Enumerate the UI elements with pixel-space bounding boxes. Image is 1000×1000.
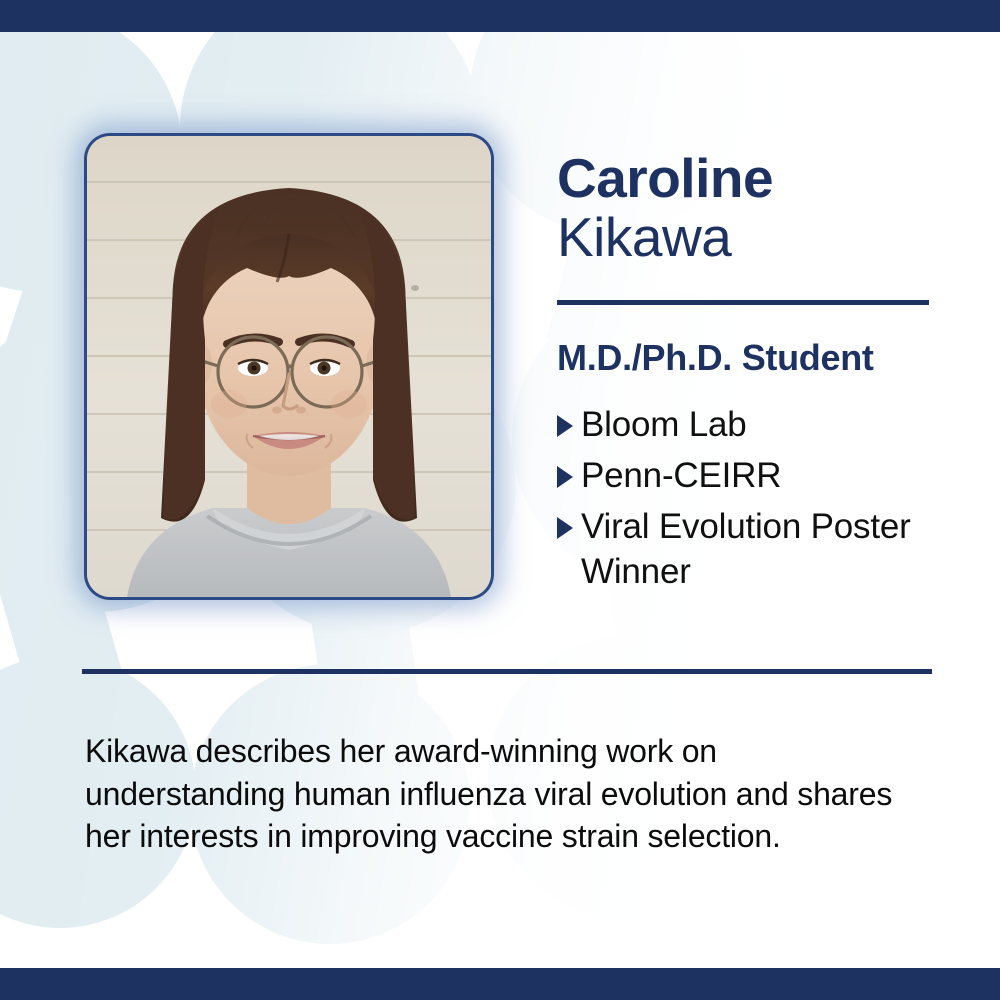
list-item: Penn-CEIRR <box>557 454 987 499</box>
bottom-navy-band <box>0 968 1000 1000</box>
triangle-bullet-icon <box>557 466 573 488</box>
top-navy-band <box>0 0 1000 32</box>
profile-card: Caroline Kikawa M.D./Ph.D. Student Bloom… <box>0 0 1000 1000</box>
person-first-name: Caroline <box>557 150 987 207</box>
profile-info: Caroline Kikawa M.D./Ph.D. Student Bloom… <box>557 150 987 601</box>
section-divider <box>82 669 932 674</box>
affiliation-label: Viral Evolution Poster Winner <box>581 505 987 595</box>
triangle-bullet-icon <box>557 415 573 437</box>
person-last-name: Kikawa <box>557 207 987 269</box>
affiliation-label: Penn-CEIRR <box>581 454 781 499</box>
portrait-photo <box>87 136 491 597</box>
list-item: Bloom Lab <box>557 403 987 448</box>
triangle-bullet-icon <box>557 517 573 539</box>
name-role-divider <box>557 300 929 305</box>
description-text: Kikawa describes her award-winning work … <box>85 730 925 858</box>
list-item: Viral Evolution Poster Winner <box>557 505 987 595</box>
affiliation-label: Bloom Lab <box>581 403 747 448</box>
person-role: M.D./Ph.D. Student <box>557 338 987 378</box>
portrait-photo-frame <box>84 133 494 600</box>
affiliation-list: Bloom Lab Penn-CEIRR Viral Evolution Pos… <box>557 403 987 594</box>
